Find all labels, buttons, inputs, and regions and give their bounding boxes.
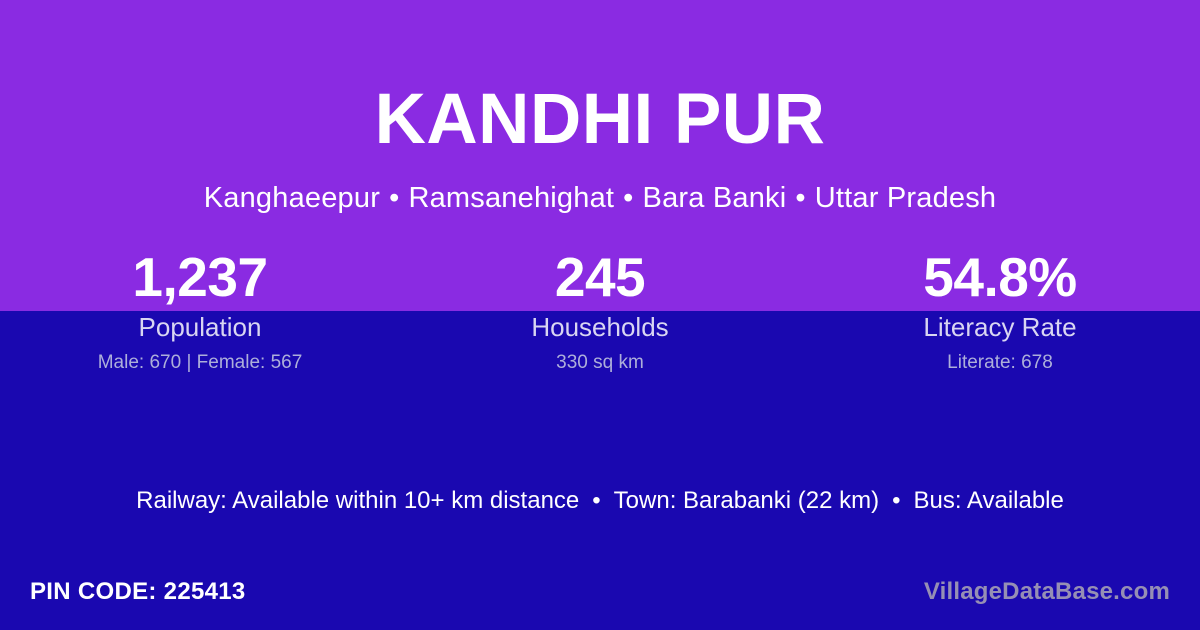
- stat-label: Literacy Rate: [800, 313, 1200, 341]
- amenity-item: Bus: Available: [914, 487, 1064, 514]
- amenities-line: Railway: Available within 10+ km distanc…: [0, 487, 1200, 515]
- pin-code-label: PIN CODE: 225413: [30, 576, 246, 608]
- breadcrumb: Kanghaeepur•Ramsanehighat•Bara Banki•Utt…: [0, 182, 1200, 215]
- stat-card-households: 245Households330 sq km: [400, 248, 800, 373]
- breadcrumb-separator-dot: •: [380, 182, 408, 215]
- stat-card-population: 1,237PopulationMale: 670 | Female: 567: [0, 248, 400, 373]
- stat-detail: 330 sq km: [400, 353, 800, 373]
- stats-row: 1,237PopulationMale: 670 | Female: 56724…: [0, 248, 1200, 373]
- breadcrumb-segment: Kanghaeepur: [204, 182, 380, 214]
- stat-detail: Male: 670 | Female: 567: [0, 353, 400, 373]
- stat-value: 54.8%: [800, 248, 1200, 306]
- stat-value: 1,237: [0, 248, 400, 306]
- amenity-separator-dot: •: [579, 487, 613, 515]
- village-info-card: KANDHI PUR Kanghaeepur•Ramsanehighat•Bar…: [0, 0, 1200, 630]
- stat-label: Population: [0, 313, 400, 341]
- amenity-item: Railway: Available within 10+ km distanc…: [136, 487, 579, 514]
- brand-watermark: VillageDataBase.com: [924, 576, 1170, 608]
- breadcrumb-segment: Uttar Pradesh: [815, 182, 997, 214]
- stat-card-literacy-rate: 54.8%Literacy RateLiterate: 678: [800, 248, 1200, 373]
- breadcrumb-segment: Ramsanehighat: [408, 182, 614, 214]
- breadcrumb-separator-dot: •: [786, 182, 814, 215]
- card-footer: PIN CODE: 225413 VillageDataBase.com: [0, 576, 1200, 616]
- stat-label: Households: [400, 313, 800, 341]
- amenity-separator-dot: •: [879, 487, 913, 515]
- breadcrumb-separator-dot: •: [614, 182, 642, 215]
- breadcrumb-segment: Bara Banki: [643, 182, 787, 214]
- stat-detail: Literate: 678: [800, 353, 1200, 373]
- stat-value: 245: [400, 248, 800, 306]
- page-title: KANDHI PUR: [0, 84, 1200, 155]
- amenity-item: Town: Barabanki (22 km): [614, 487, 879, 514]
